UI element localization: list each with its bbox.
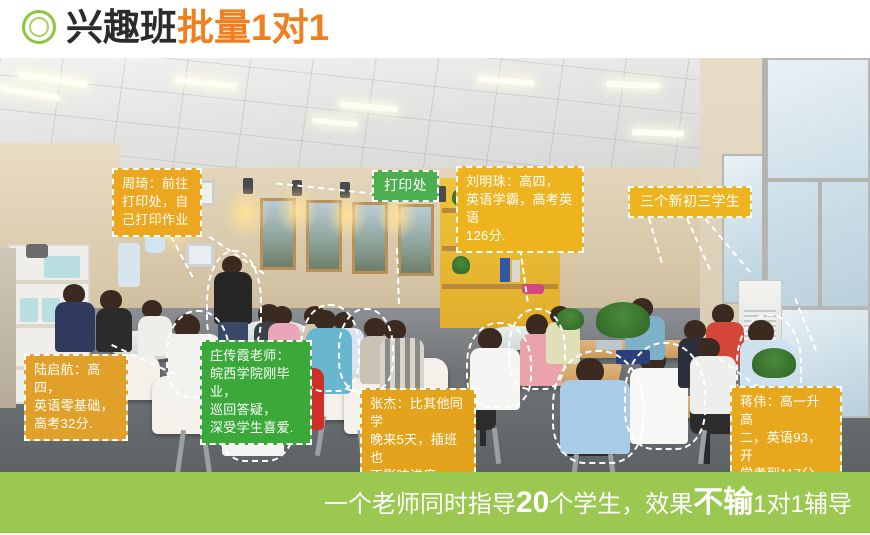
callout-line: 晚来5天，插班也 xyxy=(370,431,466,467)
callout-line: 126分. xyxy=(466,227,574,245)
callout-jiangwei[interactable]: 蒋伟：高一升高 二，英语93，开 学考到117分. xyxy=(730,386,842,472)
callout-line: 英语零基础， xyxy=(34,397,118,415)
student-outline xyxy=(338,308,394,392)
student-outline xyxy=(508,308,566,390)
binder xyxy=(500,258,510,282)
plant xyxy=(452,256,470,274)
header-bar: 兴趣班批量1对1 xyxy=(0,0,870,58)
footer-slogan: 一个老师同时指导20个学生，效果不输1对1辅导 xyxy=(324,472,852,533)
callout-line: 陆启航：高四， xyxy=(34,361,118,397)
poster-root: 兴趣班批量1对1 xyxy=(0,0,870,533)
storage-box xyxy=(44,256,80,278)
callout-liumingzhu[interactable]: 刘明珠：高四， 英语学霸，高考英语 126分. xyxy=(456,166,584,253)
callout-zhouqi[interactable]: 周琦：前往 打印处，自 己打印作业 xyxy=(112,168,202,237)
callout-teacher-zhuangchuanxia[interactable]: 庄传霞老师： 皖西学院刚毕业， 巡回答疑， 深受学生喜爱. xyxy=(200,340,312,445)
wall-notice xyxy=(186,243,214,267)
binder xyxy=(512,260,520,282)
callout-line: 打印处 xyxy=(384,176,427,195)
footer-part4: 1对1辅导 xyxy=(753,491,852,518)
callout-three-new-students[interactable]: 三个新初三学生 xyxy=(628,186,752,218)
left-column xyxy=(0,248,16,408)
callout-line: 皖西学院刚毕业， xyxy=(210,365,302,401)
plant xyxy=(596,302,650,338)
footer-bar: 一个老师同时指导20个学生，效果不输1对1辅导 xyxy=(0,472,870,533)
double-circle-icon xyxy=(22,10,56,44)
light-glow xyxy=(222,186,270,240)
callout-line: 巡回答疑， xyxy=(210,401,302,419)
footer-part3: 效果 xyxy=(645,491,693,518)
callout-line: 蒋伟：高一升高 xyxy=(740,393,832,429)
callout-luqihang[interactable]: 陆启航：高四， 英语零基础， 高考32分. xyxy=(24,354,128,441)
callout-line: 二，英语93，开 xyxy=(740,429,832,465)
callout-print-station[interactable]: 打印处 xyxy=(372,170,439,202)
callout-line: 三个新初三学生 xyxy=(640,192,740,211)
footer-part2: 个学生， xyxy=(549,491,645,518)
callout-line: 己打印作业 xyxy=(122,211,192,229)
light-glow xyxy=(326,190,368,240)
light-glow xyxy=(276,186,318,236)
callout-line: 学考到117分. xyxy=(740,465,832,472)
callout-line: 深受学生喜爱. xyxy=(210,419,302,437)
page-title: 兴趣班批量1对1 xyxy=(66,2,329,54)
callout-line: 高考32分. xyxy=(34,415,118,433)
callout-line: 英语学霸，高考英语 xyxy=(466,191,574,227)
water-dispenser xyxy=(118,243,140,287)
footer-highlight-count: 20 xyxy=(516,486,549,519)
footer-highlight-claim: 不输 xyxy=(693,486,753,519)
page-title-accent: 批量1对1 xyxy=(177,7,329,48)
callout-line: 庄传霞老师： xyxy=(210,347,302,365)
callout-line: 周琦：前往 xyxy=(122,175,192,193)
callout-line: 张杰：比其他同学 xyxy=(370,395,466,431)
page-title-dark: 兴趣班 xyxy=(66,7,177,48)
callout-line: 打印处，自 xyxy=(122,193,192,211)
bag xyxy=(26,244,48,258)
footer-part1: 一个老师同时指导 xyxy=(324,491,516,518)
paper xyxy=(596,340,622,350)
classroom-photo: 周琦：前往 打印处，自 己打印作业 打印处 刘明珠：高四， 英语学霸，高考英语 … xyxy=(0,58,870,472)
student-outline xyxy=(624,342,706,450)
callout-line: 刘明珠：高四， xyxy=(466,173,574,191)
callout-zhangjie[interactable]: 张杰：比其他同学 晚来5天，插班也 不影响进度. xyxy=(360,388,476,472)
storage-box xyxy=(20,298,38,322)
